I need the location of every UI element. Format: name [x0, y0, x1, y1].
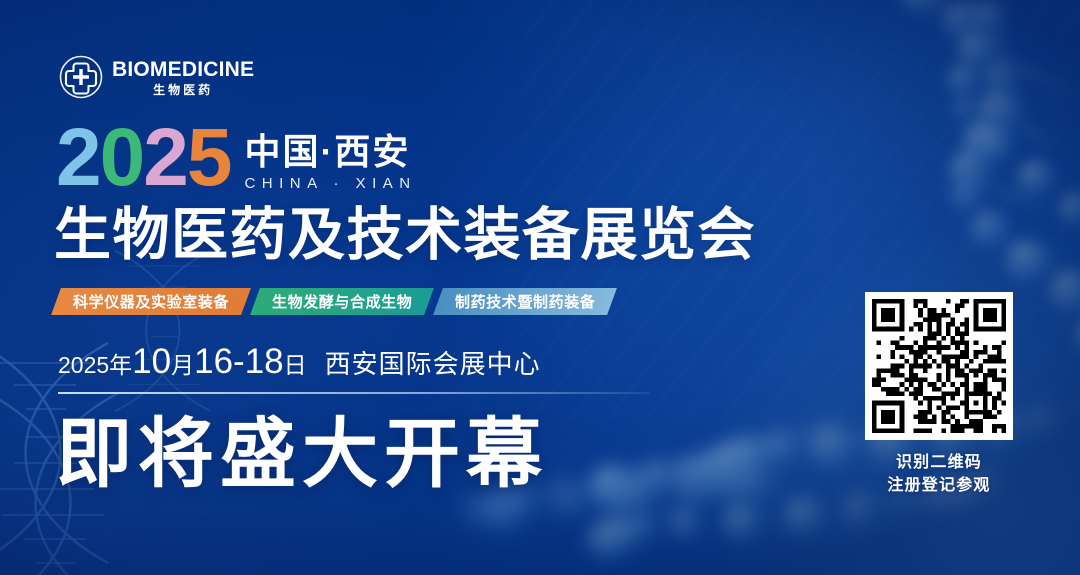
year-digit-2: 2 — [143, 124, 187, 193]
medical-cross-circle-icon — [58, 54, 104, 100]
event-month: 10 — [132, 342, 171, 382]
brand-logo: BIOMEDICINE 生物医药 — [58, 54, 254, 100]
event-days: 16-18 — [194, 342, 284, 382]
event-venue: 西安国际会展中心 — [325, 344, 541, 381]
ribbon-label: 制药技术暨制药装备 — [455, 291, 595, 312]
qr-code-icon[interactable] — [872, 299, 1006, 433]
event-day-unit: 日 — [284, 346, 307, 380]
event-month-unit: 月 — [171, 346, 194, 380]
city-block: 中国·西安 CHINA · XIAN — [244, 134, 416, 193]
ribbon-tag-instruments: 科学仪器及实验室装备 — [51, 288, 251, 315]
city-label-en: CHINA · XIAN — [244, 176, 416, 191]
topic-ribbons: 科学仪器及实验室装备 生物发酵与合成生物 制药技术暨制药装备 — [56, 288, 613, 315]
year-digit-1: 0 — [100, 124, 144, 193]
qr-caption-line2: 注册登记参观 — [887, 474, 990, 497]
ribbon-tag-pharma-tech: 制药技术暨制药装备 — [434, 288, 618, 315]
qr-caption: 识别二维码 注册登记参观 — [887, 451, 990, 497]
qr-code-frame[interactable] — [865, 292, 1013, 440]
page-title: 生物医药及技术装备展览会 — [54, 204, 756, 268]
ribbon-label: 生物发酵与合成生物 — [272, 291, 412, 312]
logo-name-cn: 生物医药 — [153, 84, 213, 96]
ribbon-label: 科学仪器及实验室装备 — [73, 291, 229, 312]
divider-line — [58, 392, 650, 394]
event-year-unit: 年 — [109, 346, 132, 380]
year-2025: 2025 — [56, 124, 230, 193]
year-city-row: 2025 中国·西安 CHINA · XIAN — [56, 124, 417, 193]
headline-grand-opening: 即将盛大开幕 — [56, 414, 548, 496]
event-year: 2025 — [58, 352, 109, 379]
qr-caption-line1: 识别二维码 — [887, 451, 990, 474]
qr-registration-block: 识别二维码 注册登记参观 — [865, 292, 1013, 497]
city-label-cn: 中国·西安 — [244, 134, 416, 170]
promotional-banner: BIOMEDICINE 生物医药 2025 中国·西安 CHINA · XIAN… — [0, 0, 1080, 575]
logo-name-en: BIOMEDICINE — [112, 59, 254, 80]
event-date-venue: 2025 年 10 月 16-18 日 西安国际会展中心 — [58, 342, 541, 382]
year-digit-3: 5 — [187, 124, 231, 193]
ribbon-tag-fermentation: 生物发酵与合成生物 — [250, 288, 434, 315]
year-digit-0: 2 — [56, 124, 100, 193]
